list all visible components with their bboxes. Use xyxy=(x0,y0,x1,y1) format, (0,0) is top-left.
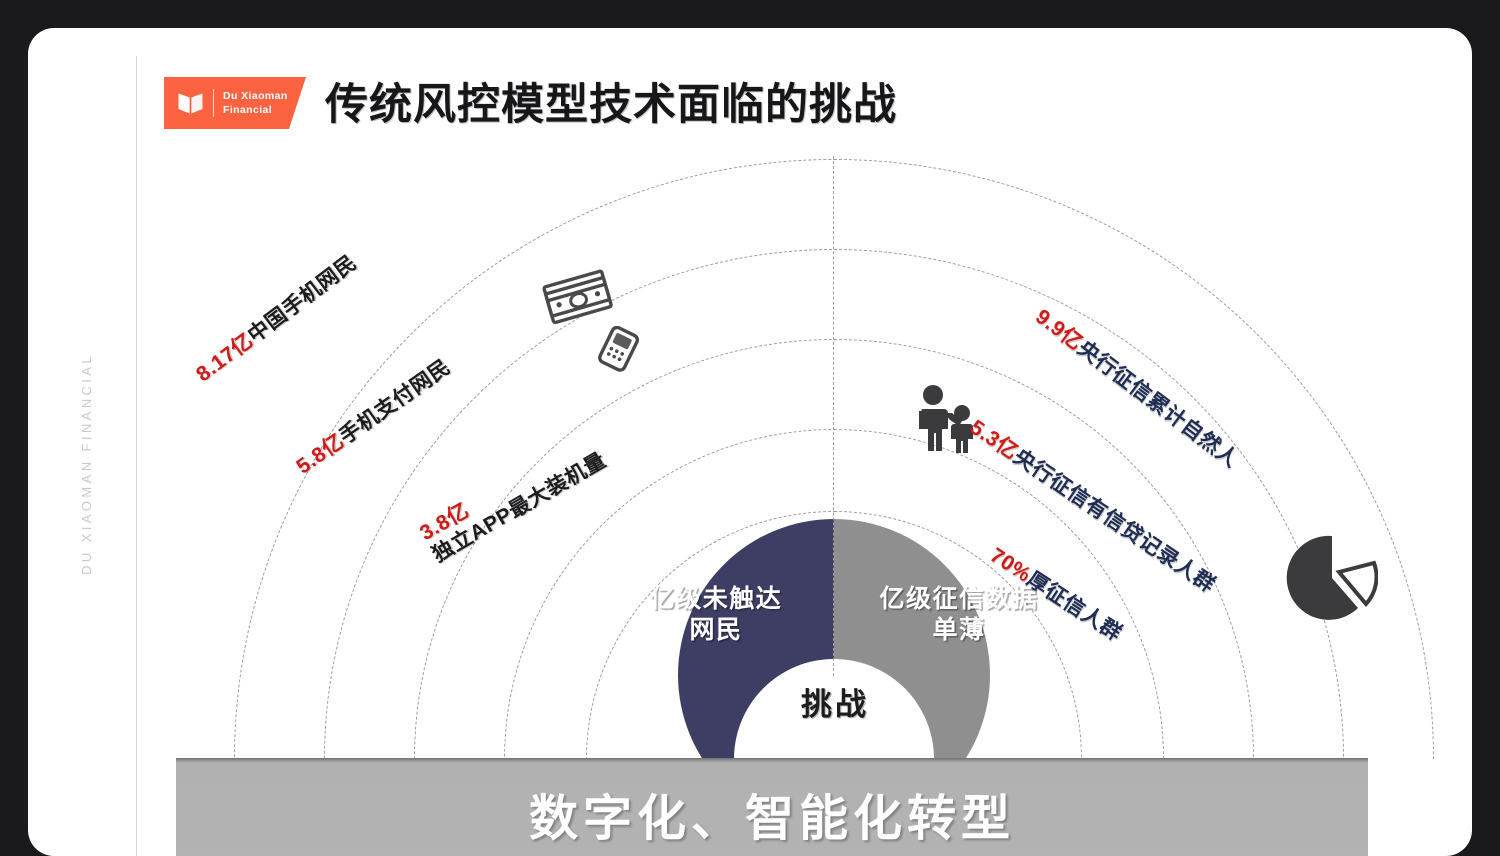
mobile-phone-icon xyxy=(591,326,647,377)
vertical-brand-text: DU XIAOMAN FINANCIAL xyxy=(74,344,98,584)
page-title: 传统风控模型技术面临的挑战 xyxy=(325,70,897,132)
brand-strip-divider xyxy=(136,56,137,856)
open-book-icon xyxy=(177,92,204,115)
center-core-label: 挑战 xyxy=(773,679,897,724)
left-half-label: 亿级未触达 网民 xyxy=(628,584,804,646)
pie-chart-icon xyxy=(1286,532,1378,629)
family-people-icon xyxy=(911,383,983,458)
logo-text-line2: Financial xyxy=(223,104,272,116)
banknote-stack-icon xyxy=(540,266,618,335)
vertical-brand-label: DU XIAOMAN FINANCIAL xyxy=(79,353,94,575)
slide-surface: DU XIAOMAN FINANCIAL 8 Du Xiaoman Financ… xyxy=(28,28,1472,856)
logo-text-line1: Du Xiaoman xyxy=(223,90,288,102)
logo-divider xyxy=(213,89,214,117)
logo-text: Du Xiaoman Financial xyxy=(223,89,288,117)
slide-frame: DU XIAOMAN FINANCIAL 8 Du Xiaoman Financ… xyxy=(0,0,1500,856)
right-half-label: 亿级征信数据 单薄 xyxy=(866,584,1052,646)
brand-logo: Du Xiaoman Financial xyxy=(164,77,306,129)
transformation-banner: 数字化、智能化转型 xyxy=(176,758,1368,856)
radial-diagram xyxy=(136,128,1472,856)
transformation-banner-label: 数字化、智能化转型 xyxy=(529,779,1015,850)
center-divider xyxy=(833,156,834,676)
